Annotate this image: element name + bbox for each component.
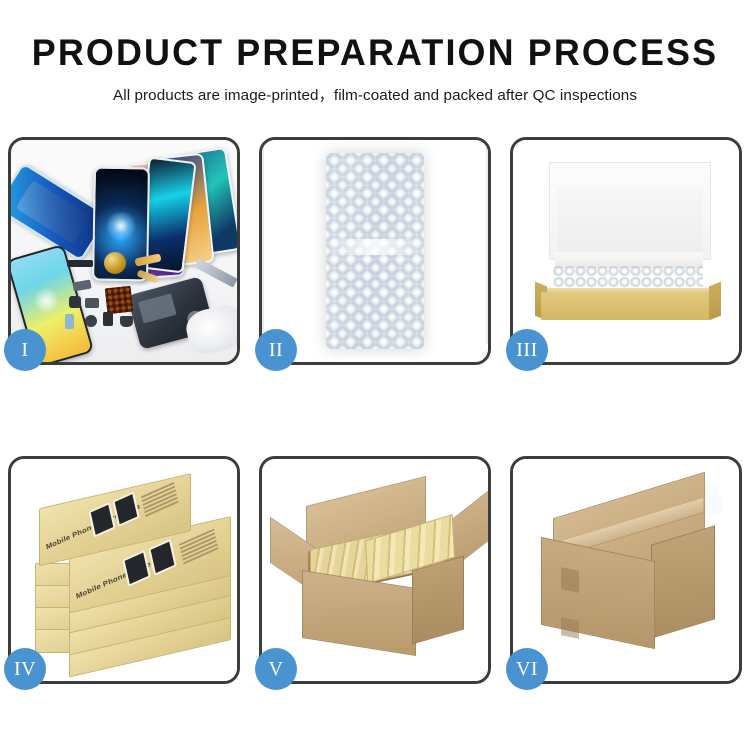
small-part-c xyxy=(85,298,99,308)
box-side-right xyxy=(709,282,721,321)
small-part-g xyxy=(120,316,133,327)
wrap-edge-left xyxy=(262,140,264,344)
small-part-d xyxy=(103,312,113,326)
step-5-image xyxy=(262,459,488,681)
page-subtitle: All products are image-printed，film-coat… xyxy=(0,83,750,105)
speaker-part xyxy=(67,260,93,267)
small-part-b xyxy=(69,296,81,308)
step-6-image xyxy=(513,459,739,681)
step-panel-2: II xyxy=(259,137,491,365)
step-badge-6: VI xyxy=(506,648,548,690)
step-2-image xyxy=(262,140,488,362)
bubble-wrapped-product xyxy=(326,153,424,349)
step-badge-1: I xyxy=(4,329,46,371)
step-3-image xyxy=(513,140,739,362)
step-badge-2: II xyxy=(255,329,297,371)
vibration-motor-part xyxy=(104,252,126,274)
small-part-e xyxy=(85,315,97,327)
carton-handle-cutout-1 xyxy=(561,567,579,593)
step-panel-3: III xyxy=(510,137,742,365)
carton-side-right xyxy=(651,525,715,639)
steps-grid: I II III xyxy=(8,137,742,684)
carton-front-panel xyxy=(302,570,416,656)
box-lid-inner-face xyxy=(557,188,703,258)
product-preparation-infographic: PRODUCT PREPARATION PROCESS All products… xyxy=(0,0,750,750)
carton-right-panel xyxy=(412,556,464,645)
small-part-f xyxy=(65,314,74,329)
step-panel-6: VI xyxy=(510,456,742,684)
step-badge-4: IV xyxy=(4,648,46,690)
step-badge-5: V xyxy=(255,648,297,690)
wrap-edge-right xyxy=(486,140,488,344)
box-front-panel xyxy=(541,292,709,320)
small-part-a xyxy=(72,280,91,292)
page-title: PRODUCT PREPARATION PROCESS xyxy=(11,34,739,73)
step-badge-3: III xyxy=(506,329,548,371)
open-master-carton xyxy=(288,493,466,655)
header: PRODUCT PREPARATION PROCESS All products… xyxy=(0,0,750,105)
plastic-glare xyxy=(326,239,424,255)
step-panel-5: V xyxy=(259,456,491,684)
step-4-image: Mobile Phone Spare Parts Mobile Phone Sp… xyxy=(11,459,237,681)
sealed-master-carton xyxy=(535,495,721,651)
step-panel-1: I xyxy=(8,137,240,365)
carton-handle-cutout-2 xyxy=(561,617,579,639)
kraft-box-stack: Mobile Phone Spare Parts Mobile Phone Sp… xyxy=(21,477,233,673)
step-panel-4: Mobile Phone Spare Parts Mobile Phone Sp… xyxy=(8,456,240,684)
step-1-image xyxy=(11,140,237,362)
ic-chip-part xyxy=(105,286,134,315)
